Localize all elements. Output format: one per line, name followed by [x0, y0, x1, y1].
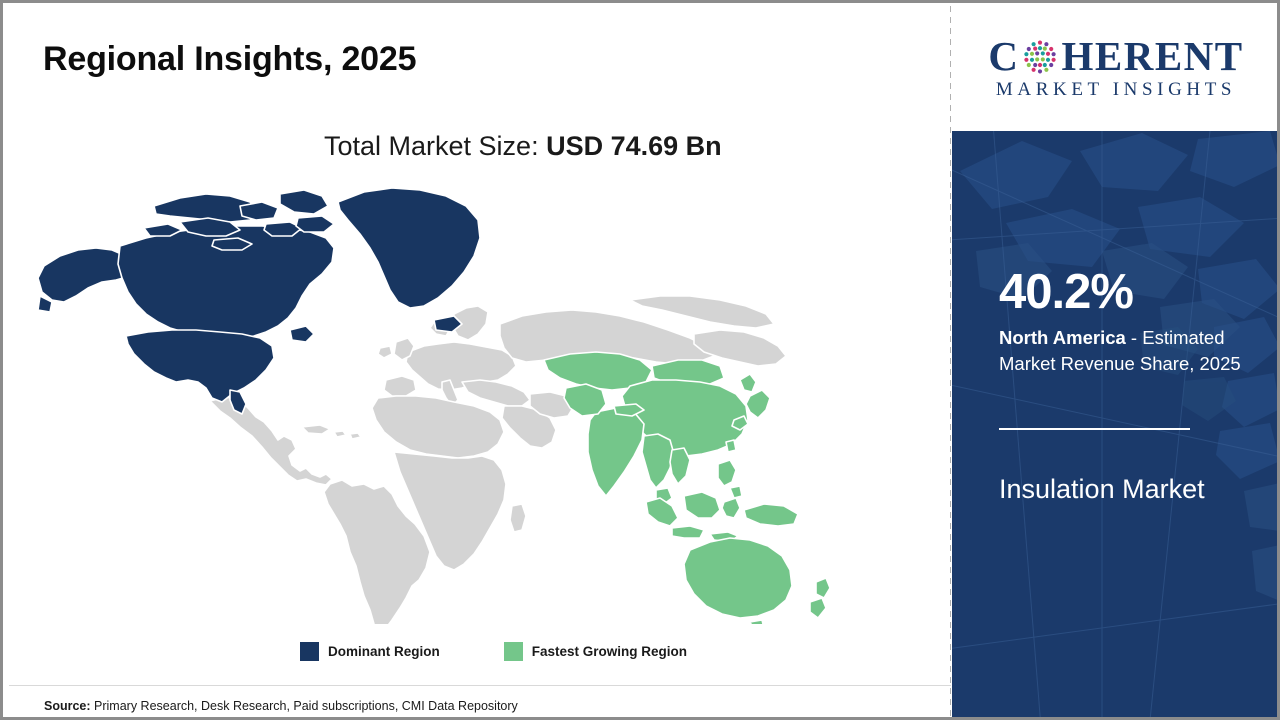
world-map	[34, 184, 834, 624]
infographic-frame: Regional Insights, 2025 Total Market Siz…	[0, 0, 1280, 720]
dotted-globe-icon	[1020, 37, 1060, 77]
stat-region-name: North America	[999, 327, 1126, 348]
source-note: Source: Primary Research, Desk Research,…	[44, 699, 518, 713]
stat-market-name: Insulation Market	[999, 468, 1249, 512]
stat-percentage: 40.2%	[999, 268, 1133, 317]
left-panel: Regional Insights, 2025 Total Market Siz…	[6, 6, 951, 720]
map-region-asia-pacific	[544, 352, 830, 624]
logo-word-after: HERENT	[1061, 36, 1243, 77]
map-legend: Dominant Region Fastest Growing Region	[300, 642, 687, 661]
logo-word-before: C	[988, 36, 1019, 77]
legend-label-fastest-growing: Fastest Growing Region	[532, 644, 687, 659]
page-title: Regional Insights, 2025	[43, 40, 416, 79]
legend-swatch-fastest-growing	[504, 642, 523, 661]
panel-divider	[950, 6, 951, 720]
source-label: Source:	[44, 699, 91, 713]
source-text: Primary Research, Desk Research, Paid su…	[94, 699, 518, 713]
market-size-value: USD 74.69 Bn	[546, 131, 722, 161]
logo-subtitle: MARKET INSIGHTS	[966, 79, 1266, 101]
brand-logo: C	[952, 6, 1280, 131]
legend-item-fastest-growing: Fastest Growing Region	[504, 642, 687, 661]
source-divider	[9, 685, 951, 686]
legend-swatch-dominant	[300, 642, 319, 661]
stat-description: North America - Estimated Market Revenue…	[999, 325, 1264, 378]
stat-panel: 40.2% North America - Estimated Market R…	[952, 131, 1280, 720]
world-map-svg	[34, 184, 834, 624]
total-market-size: Total Market Size: USD 74.69 Bn	[324, 131, 722, 162]
stat-divider	[999, 428, 1190, 430]
legend-item-dominant: Dominant Region	[300, 642, 440, 661]
market-size-label: Total Market Size:	[324, 131, 539, 161]
legend-label-dominant: Dominant Region	[328, 644, 440, 659]
logo-wordmark: C	[966, 36, 1266, 77]
